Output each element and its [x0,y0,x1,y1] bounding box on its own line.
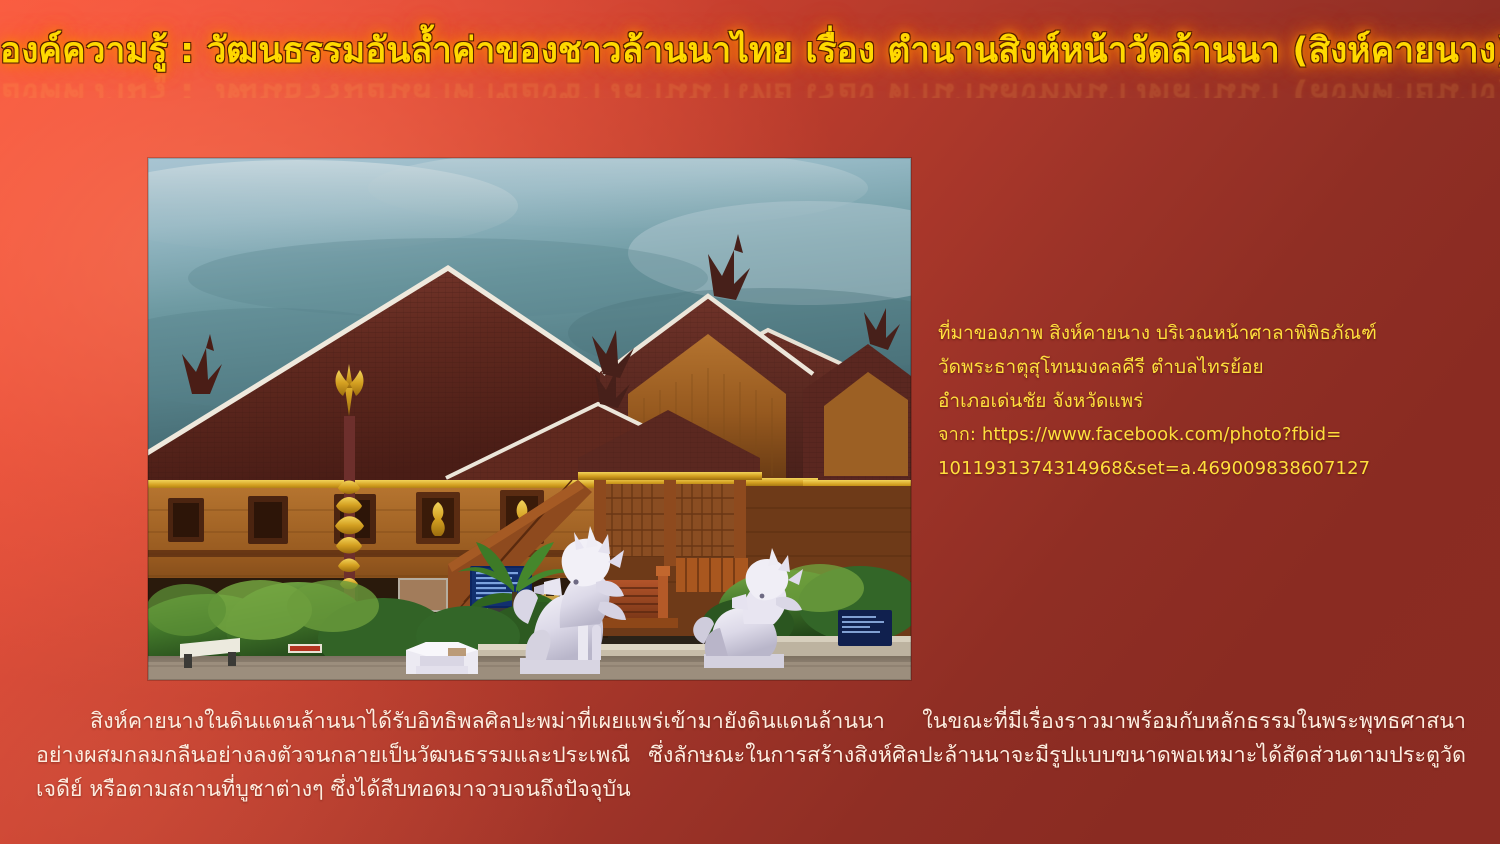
temple-photo-illustration [148,158,911,680]
temple-photo [148,158,911,680]
page-title: องค์ความรู้ : วัฒนธรรมอันล้ำค่าของชาวล้า… [0,30,1500,74]
page-title-text: องค์ความรู้ : วัฒนธรรมอันล้ำค่าของชาวล้า… [0,30,1500,74]
source-url-continuation[interactable]: 1011931374314968&set=a.469009838607127 [938,452,1483,486]
slide-canvas: องค์ความรู้ : วัฒนธรรมอันล้ำค่าของชาวล้า… [0,0,1500,844]
source-line-2: วัดพระธาตุสุโทนมงคลคีรี ตำบลไทรย้อย [938,350,1483,384]
source-line-1: ที่มาของภาพ สิงห์คายนาง บริเวณหน้าศาลาพิ… [938,316,1483,350]
body-paragraph: สิงห์คายนางในดินแดนล้านนาได้รับอิทธิพลศิ… [36,705,1466,807]
page-title-reflection-text: องค์ความรู้ : วัฒนธรรมอันล้ำค่าของชาวล้า… [0,72,1500,98]
source-line-3: อำเภอเด่นชัย จังหวัดแพร่ [938,384,1483,418]
source-url-label[interactable]: จาก: https://www.facebook.com/photo?fbid… [938,418,1483,452]
page-title-reflection: องค์ความรู้ : วัฒนธรรมอันล้ำค่าของชาวล้า… [0,72,1500,98]
image-source-caption: ที่มาของภาพ สิงห์คายนาง บริเวณหน้าศาลาพิ… [938,316,1483,486]
